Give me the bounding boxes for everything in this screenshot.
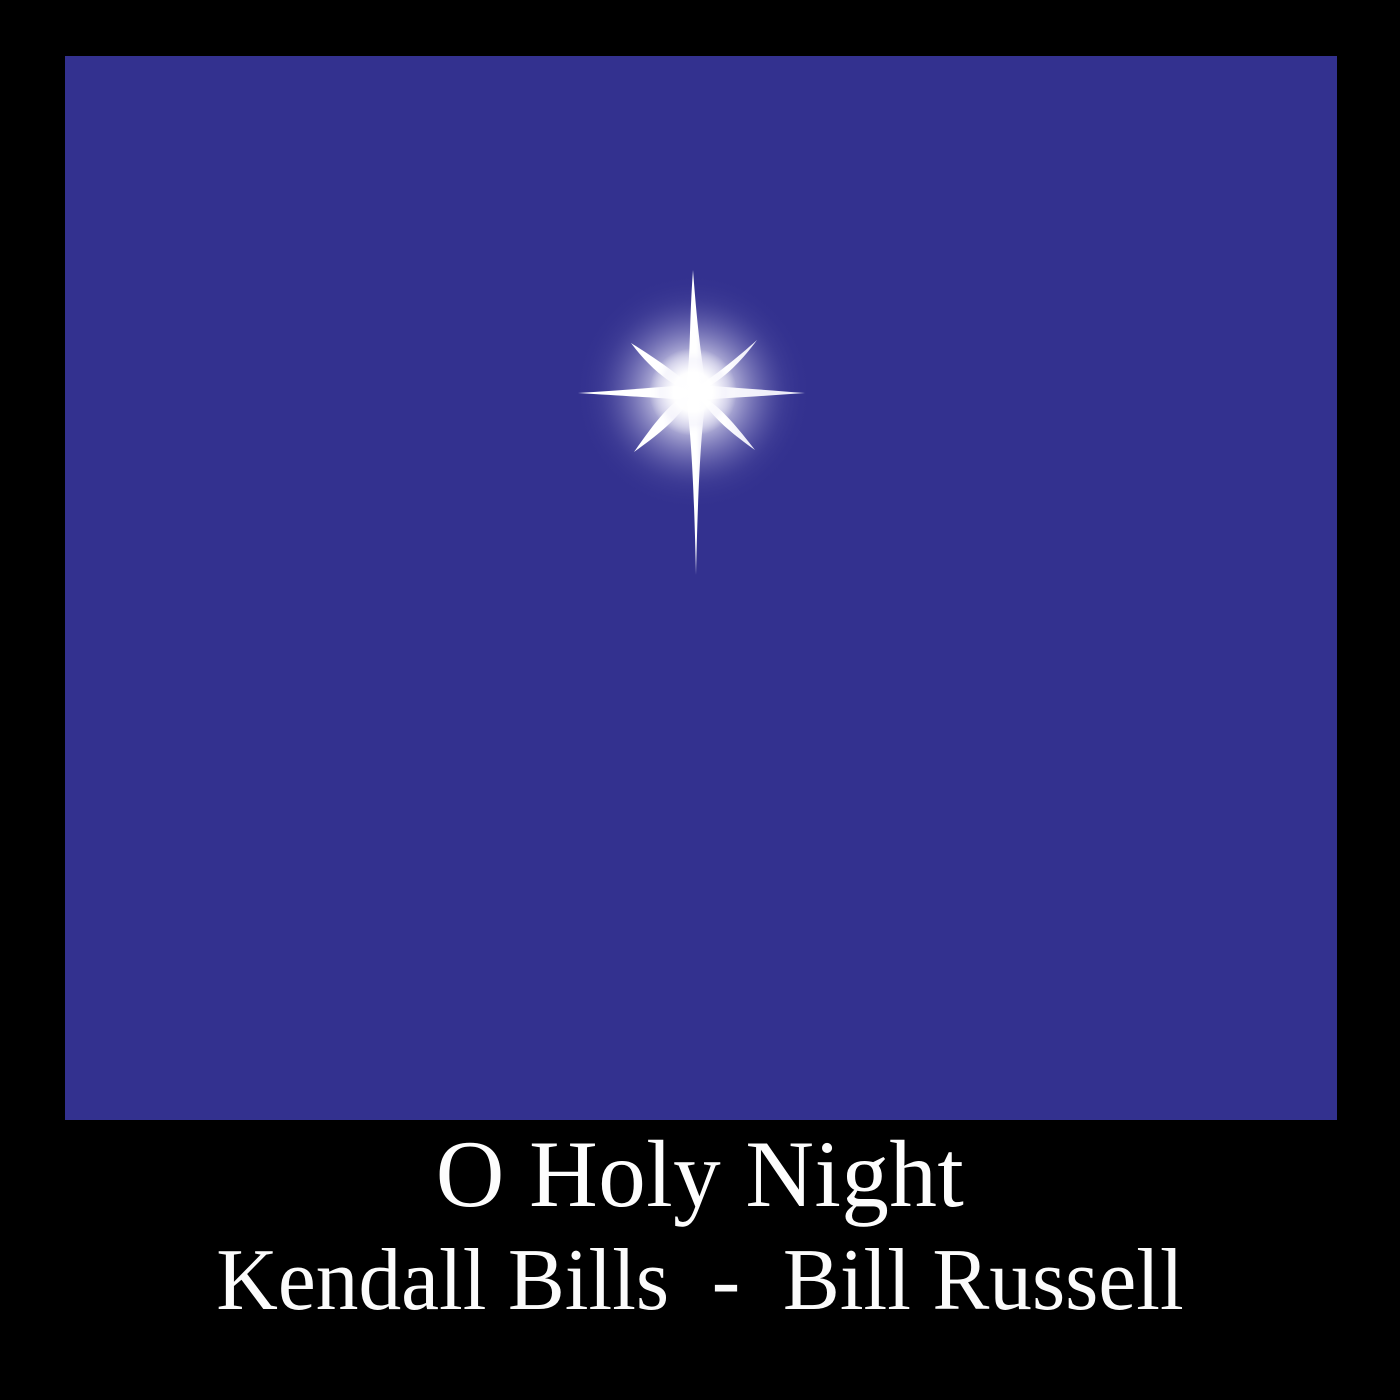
ray-diagonal-lower-left [634, 392, 693, 452]
album-title: O Holy Night [0, 1126, 1400, 1223]
artwork-panel [65, 56, 1337, 1120]
star-of-bethlehem-icon [65, 56, 1337, 1120]
ray-diagonal-upper-right [693, 340, 757, 392]
star-core [649, 348, 737, 436]
album-cover: O Holy Night Kendall Bills - Bill Russel… [0, 0, 1400, 1400]
star-halo [575, 274, 811, 510]
ray-vertical [686, 270, 706, 575]
artist-credits: Kendall Bills - Bill Russell [21, 1223, 1379, 1327]
star-rays [578, 270, 805, 575]
ray-horizontal [578, 385, 805, 400]
caption-block: O Holy Night Kendall Bills - Bill Russel… [0, 1126, 1400, 1326]
ray-diagonal-upper-left [631, 343, 693, 392]
star-graphic-container [65, 56, 1337, 1120]
ray-diagonal-lower-right [693, 392, 755, 450]
